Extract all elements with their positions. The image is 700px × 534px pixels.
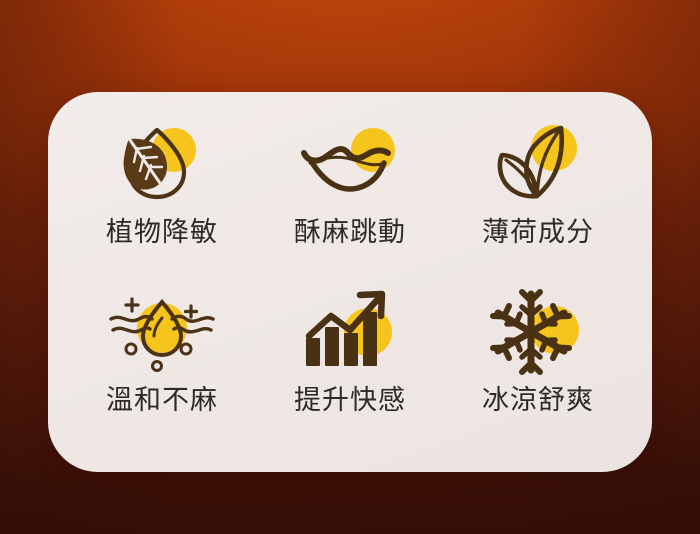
feature-label: 冰涼舒爽 [482,386,594,416]
lips-icon [291,118,409,210]
leaf-droplet-icon [103,118,221,210]
feature-label: 提升快感 [294,386,406,416]
feature-cell-mint-ingredient[interactable]: 薄荷成分 [444,118,632,284]
feature-label: 薄荷成分 [482,218,594,248]
feature-cell-tingling-pulse[interactable]: 酥麻跳動 [256,118,444,284]
droplet-skin-icon [103,284,221,380]
feature-cell-plant-desensitize[interactable]: 植物降敏 [68,118,256,284]
feature-cell-cool-refreshing[interactable]: 冰涼舒爽 [444,284,632,450]
feature-label: 酥麻跳動 [294,218,406,248]
promo-banner: 植物降敏 酥麻跳動 [0,0,700,534]
feature-label: 植物降敏 [106,218,218,248]
feature-card: 植物降敏 酥麻跳動 [48,92,652,472]
feature-cell-boost-pleasure[interactable]: 提升快感 [256,284,444,450]
bar-chart-up-icon [291,284,409,380]
mint-leaves-icon [479,118,597,210]
feature-label: 溫和不麻 [106,386,218,416]
snowflake-icon [479,284,597,380]
feature-cell-mild-no-numb[interactable]: 溫和不麻 [68,284,256,450]
